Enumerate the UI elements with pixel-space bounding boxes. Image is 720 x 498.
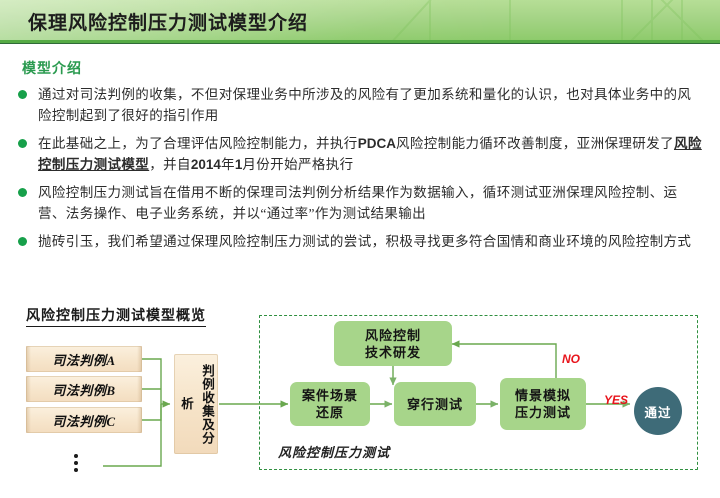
- dot-icon: [74, 454, 78, 458]
- case-box-label: 司法判例B: [52, 380, 115, 399]
- process-box-line2: 还原: [302, 404, 358, 421]
- process-box-line1: 穿行测试: [407, 396, 463, 413]
- slide-root: 保理风险控制压力测试模型介绍 模型介绍 通过对司法判例的收集，不但对保理业务中所…: [0, 0, 720, 498]
- bullet-text: 在此基础之上，为了合理评估风险控制能力，并执行PDCA风险控制能力循环改善制度，…: [38, 133, 704, 175]
- decision-yes-label: YES: [604, 393, 628, 407]
- torn-edge-right-icon: [137, 407, 142, 433]
- process-box-case-scene: 案件场景 还原: [290, 382, 370, 426]
- process-box-line1: 情景模拟: [515, 387, 571, 404]
- process-box-line2: 技术研发: [365, 344, 421, 361]
- bullet-dot-icon: [18, 90, 27, 99]
- case-box-c: 司法判例C: [26, 407, 142, 433]
- list-item: 通过对司法判例的收集，不但对保理业务中所涉及的风险有了更加系统和量化的认识，也对…: [18, 84, 704, 126]
- page-title: 保理风险控制压力测试模型介绍: [28, 8, 308, 35]
- bullet-list: 通过对司法判例的收集，不但对保理业务中所涉及的风险有了更加系统和量化的认识，也对…: [18, 84, 704, 259]
- process-box-scenario-stress: 情景模拟 压力测试: [500, 378, 586, 430]
- header-rule-dark: [0, 43, 720, 44]
- bullet-dot-icon: [18, 237, 27, 246]
- pass-result-label: 通过: [644, 402, 671, 421]
- pass-result-node: 通过: [634, 387, 682, 435]
- process-box-line1: 风险控制: [365, 327, 421, 344]
- bullet-dot-icon: [18, 188, 27, 197]
- model-overview-diagram: 风险控制压力测试模型概览 风险控制压力测试: [0, 296, 720, 498]
- ellipsis-dots-icon: [74, 454, 78, 472]
- process-box-walkthrough: 穿行测试: [394, 382, 476, 426]
- case-collection-analysis-box: 判例收集及分析: [174, 354, 218, 454]
- process-box-risk-rd: 风险控制 技术研发: [334, 321, 452, 366]
- bullet-dot-icon: [18, 139, 27, 148]
- case-collection-analysis-label: 判例收集及分析: [175, 362, 217, 446]
- torn-edge-left-icon: [26, 376, 31, 402]
- list-item: 风险控制压力测试旨在借用不断的保理司法判例分析结果作为数据输入，循环测试亚洲保理…: [18, 182, 704, 224]
- header-geometric-pattern: [390, 0, 720, 40]
- decision-no-label: NO: [562, 352, 580, 366]
- case-box-a: 司法判例A: [26, 346, 142, 372]
- dot-icon: [74, 461, 78, 465]
- torn-edge-right-icon: [137, 346, 142, 372]
- torn-edge-right-icon: [137, 376, 142, 402]
- process-box-line2: 压力测试: [515, 404, 571, 421]
- torn-edge-left-icon: [26, 346, 31, 372]
- torn-edge-left-icon: [26, 407, 31, 433]
- case-box-b: 司法判例B: [26, 376, 142, 402]
- bullet-text: 通过对司法判例的收集，不但对保理业务中所涉及的风险有了更加系统和量化的认识，也对…: [38, 84, 704, 126]
- process-box-line1: 案件场景: [302, 387, 358, 404]
- list-item: 在此基础之上，为了合理评估风险控制能力，并执行PDCA风险控制能力循环改善制度，…: [18, 133, 704, 175]
- dot-icon: [74, 468, 78, 472]
- case-box-label: 司法判例C: [52, 411, 115, 430]
- bullet-text: 抛砖引玉，我们希望通过保理风险控制压力测试的尝试，积极寻找更多符合国情和商业环境…: [38, 231, 704, 252]
- list-item: 抛砖引玉，我们希望通过保理风险控制压力测试的尝试，积极寻找更多符合国情和商业环境…: [18, 231, 704, 252]
- case-box-label: 司法判例A: [52, 350, 115, 369]
- section-heading: 模型介绍: [22, 58, 82, 78]
- bullet-text: 风险控制压力测试旨在借用不断的保理司法判例分析结果作为数据输入，循环测试亚洲保理…: [38, 182, 704, 224]
